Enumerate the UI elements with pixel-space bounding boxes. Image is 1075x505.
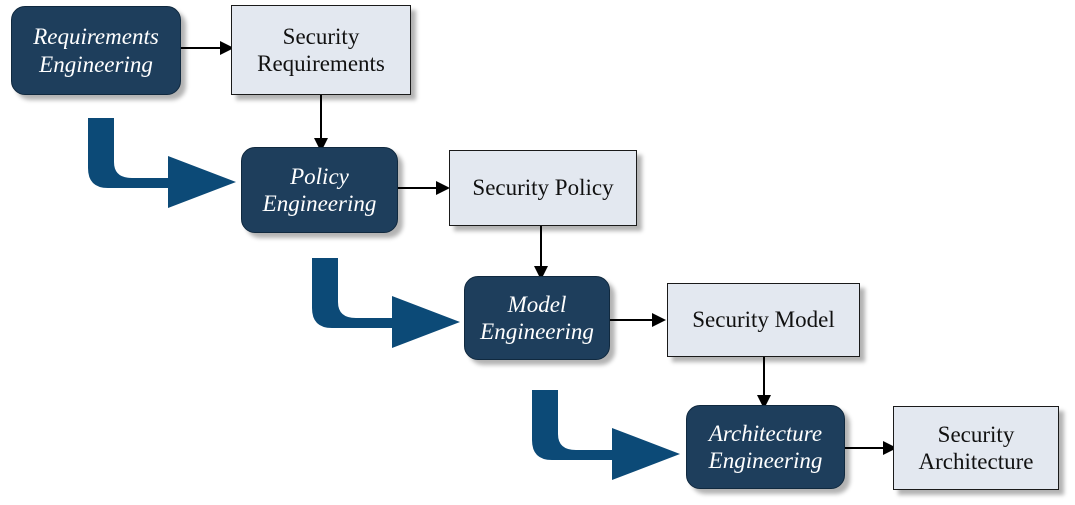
- node-security-requirements[interactable]: Security Requirements: [231, 5, 411, 95]
- node-model-engineering[interactable]: Model Engineering: [464, 276, 610, 360]
- security-engineering-diagram: Requirements Engineering Security Requir…: [0, 0, 1075, 505]
- node-policy-engineering[interactable]: Policy Engineering: [241, 147, 398, 233]
- flow-arrow-2-icon: [308, 256, 464, 348]
- node-security-architecture[interactable]: Security Architecture: [893, 406, 1059, 490]
- node-requirements-engineering[interactable]: Requirements Engineering: [11, 6, 181, 95]
- edge-sec-policy-to-model-eng: [531, 226, 551, 280]
- edge-model-eng-to-sec-model: [608, 310, 666, 330]
- edge-req-eng-to-sec-req: [180, 38, 234, 58]
- node-architecture-engineering[interactable]: Architecture Engineering: [686, 405, 845, 489]
- edge-arch-eng-to-sec-arch: [843, 438, 897, 458]
- node-security-model[interactable]: Security Model: [667, 283, 860, 357]
- node-security-policy[interactable]: Security Policy: [449, 150, 637, 226]
- flow-arrow-3-icon: [528, 388, 684, 480]
- edge-sec-model-to-arch-eng: [754, 357, 774, 409]
- edge-sec-req-to-policy-eng: [311, 94, 331, 152]
- edge-policy-eng-to-sec-policy: [396, 178, 450, 198]
- flow-arrow-1-icon: [84, 116, 240, 208]
